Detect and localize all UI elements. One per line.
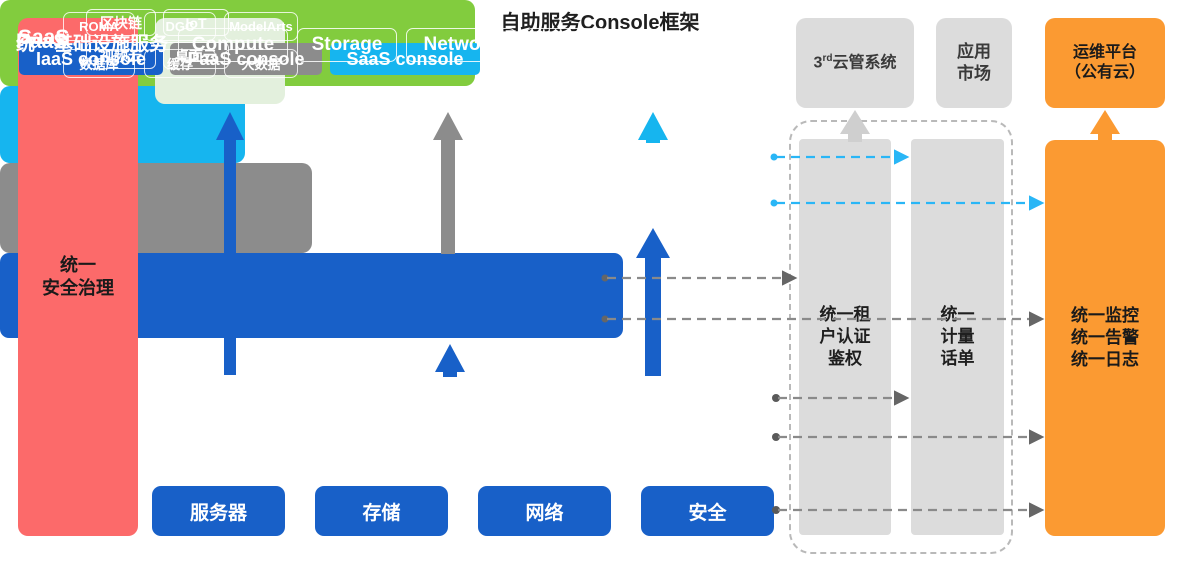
ops-monitoring-panel[interactable]: 统一监控 统一告警 统一日志 bbox=[1045, 140, 1165, 536]
unified-tenant-auth-column[interactable]: 统一租 户认证 鉴权 bbox=[799, 139, 891, 535]
ops-platform-box[interactable]: 运维平台 （公有云） bbox=[1045, 18, 1165, 108]
hardware-server-box[interactable]: 服务器 bbox=[152, 486, 285, 536]
infra-service-network[interactable]: Network bbox=[406, 28, 516, 62]
app-market-label: 应用 市场 bbox=[957, 41, 991, 85]
ops-monitoring-label: 统一监控 统一告警 统一日志 bbox=[1071, 305, 1139, 370]
unified-billing-column[interactable]: 统一 计量 话单 bbox=[911, 139, 1004, 535]
infra-service-storage[interactable]: Storage bbox=[297, 28, 397, 62]
app-market-box[interactable]: 应用 市场 bbox=[936, 18, 1012, 108]
arrow-infra-to-paas-console bbox=[433, 112, 463, 254]
arrow-infra-to-paas bbox=[435, 344, 465, 377]
arrow-infra-to-saas bbox=[636, 228, 670, 376]
cloud-mgmt-label: 3rd云管系统 bbox=[814, 53, 897, 74]
security-governance-label: 统一 安全治理 bbox=[42, 254, 114, 300]
hardware-security-box[interactable]: 安全 bbox=[641, 486, 774, 536]
third-party-cloud-mgmt-box[interactable]: 3rd云管系统 bbox=[796, 18, 914, 108]
arrow-shared-to-ops-platform bbox=[1090, 110, 1120, 142]
hardware-storage-box[interactable]: 存储 bbox=[315, 486, 448, 536]
unified-infrastructure-label: 统一基础设施服务 bbox=[16, 29, 168, 56]
unified-tenant-auth-label: 统一租 户认证 鉴权 bbox=[820, 304, 871, 370]
unified-billing-label: 统一 计量 话单 bbox=[941, 304, 975, 370]
architecture-diagram: 统一 安全治理 API网关 自助服务Console框架 IaaS console… bbox=[0, 0, 1200, 574]
hardware-network-box[interactable]: 网络 bbox=[478, 486, 611, 536]
ops-platform-label: 运维平台 （公有云） bbox=[1065, 43, 1145, 84]
infra-service-cce[interactable]: CCE bbox=[525, 28, 608, 62]
arrow-saas-to-saas-console bbox=[638, 112, 668, 143]
infra-service-compute[interactable]: Compute bbox=[178, 28, 288, 62]
security-governance-panel[interactable]: 统一 安全治理 bbox=[18, 18, 138, 536]
dashed-paas-to-auth bbox=[602, 275, 794, 282]
